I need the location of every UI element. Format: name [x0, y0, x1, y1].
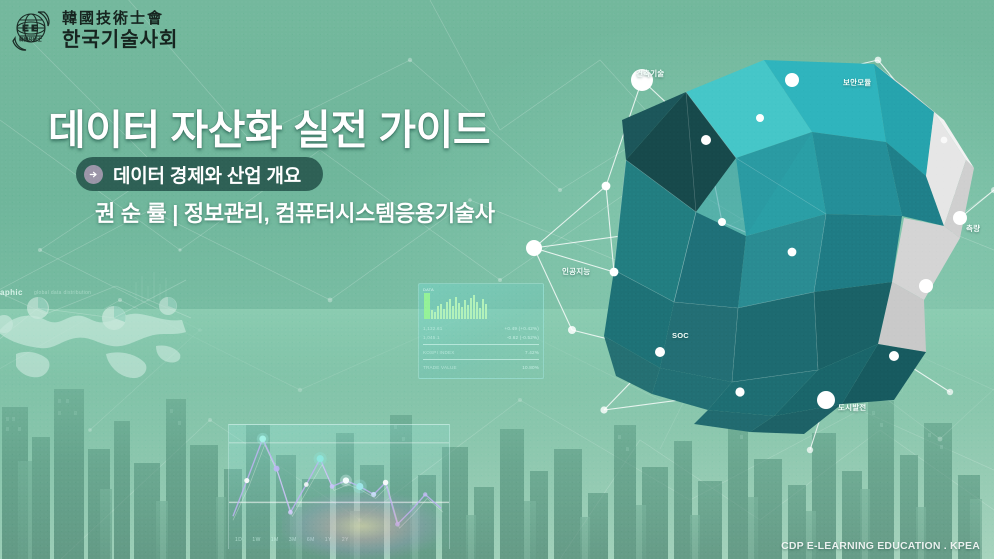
svg-text:韓國技術士: 韓國技術士: [19, 36, 42, 43]
data-dashboard-panel: DATA 1,132.61 +0.49 (+0.42%) 1,045.1 -0.…: [418, 283, 544, 379]
line-chart-tick: 1D: [235, 537, 242, 543]
dashboard-row-right: 7.42%: [525, 350, 539, 355]
city-fade-overlay: [0, 309, 994, 559]
dashboard-rows: 1,132.61 +0.49 (+0.42%) 1,045.1 -0.62 (-…: [423, 326, 539, 374]
footer-text: CDP E-LEARNING EDUCATION . KPEA: [781, 540, 980, 552]
world-map-decoration: [0, 262, 196, 397]
dashboard-row: TRADE VALUE 10.80%: [423, 365, 539, 370]
dashboard-row: KOSPI INDEX 7.42%: [423, 350, 539, 355]
dashboard-row-left: TRADE VALUE: [423, 365, 457, 370]
line-chart-tick-row: 1D 1W 1M 3M 6M 1Y 2Y: [235, 537, 443, 543]
kpea-logo: 韓國技術士 韓國技術士會 한국기술사회: [8, 6, 178, 54]
slide-canvas: aphic global data distribution DATA 1,13…: [0, 0, 994, 559]
dashboard-row-left: 1,045.1: [423, 335, 440, 340]
world-map-sublabel: global data distribution: [34, 290, 91, 296]
dashboard-row: 1,045.1 -0.62 (-0.52%): [423, 335, 539, 340]
lens-flare-decoration: [282, 492, 442, 559]
dashboard-row-right: +0.49 (+0.42%): [505, 326, 539, 331]
kpea-globe-emblem-icon: 韓國技術士: [8, 6, 56, 54]
dashboard-row: 1,132.61 +0.49 (+0.42%): [423, 326, 539, 331]
texture-overlay: [0, 0, 994, 559]
dashboard-row-left: 1,132.61: [423, 326, 442, 331]
background-network-decoration: [0, 0, 994, 559]
logo-korean: 한국기술사회: [62, 29, 178, 49]
node-label-architecture: 건축기술: [636, 68, 664, 79]
node-label-ai: 인공지능: [562, 266, 590, 277]
logo-hanja: 韓國技術士會: [62, 11, 178, 26]
line-chart-tick: 1W: [252, 537, 261, 543]
line-chart-panel: 1D 1W 1M 3M 6M 1Y 2Y: [228, 424, 450, 549]
presenter-line: 권 순 률 | 정보관리, 컴퓨터시스템응용기술사: [95, 196, 495, 228]
node-label-urban-development: 도시발전: [838, 402, 866, 413]
dashboard-divider: [423, 344, 539, 345]
node-label-security-module: 보안모듈: [843, 77, 871, 88]
world-map-label: aphic: [0, 288, 23, 297]
dashboard-row-right: 10.80%: [522, 365, 539, 370]
line-chart-tick: 3M: [289, 537, 297, 543]
dashboard-divider: [423, 359, 539, 360]
node-label-surveying: 측량: [966, 223, 980, 234]
dashboard-bar-chart: [424, 293, 487, 319]
subtitle-pill-label: 데이터 경제와 산업 개요: [113, 161, 301, 188]
city-skyline-background: [0, 329, 994, 559]
dashboard-title: DATA: [419, 284, 543, 292]
line-chart-tick: 1M: [271, 537, 279, 543]
polyhedron-network-graphic: [474, 0, 994, 470]
line-chart-tick: 6M: [307, 537, 315, 543]
line-chart-tick: 2Y: [342, 537, 349, 543]
node-label-soc: SOC: [672, 331, 689, 340]
subtitle-pill: 데이터 경제와 산업 개요: [76, 157, 323, 191]
arrow-right-circle-icon: [84, 165, 103, 184]
line-chart-tick: 1Y: [325, 537, 332, 543]
page-title: 데이터 자산화 실전 가이드: [48, 96, 490, 156]
dashboard-row-right: -0.62 (-0.52%): [507, 335, 539, 340]
dashboard-row-left: KOSPI INDEX: [423, 350, 455, 355]
kpea-logo-text: 韓國技術士會 한국기술사회: [62, 11, 178, 49]
